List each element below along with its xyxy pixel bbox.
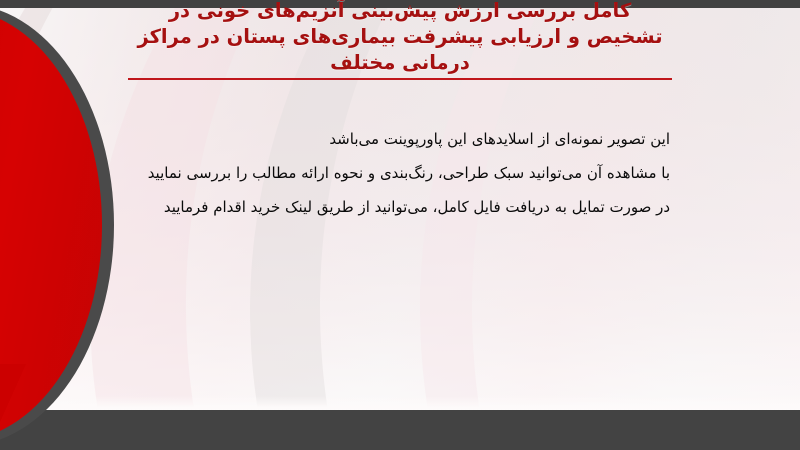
title-divider-rule xyxy=(128,78,672,80)
bottom-frame-band xyxy=(0,410,800,450)
body-line-1: این تصویر نمونه‌ای از اسلایدهای این پاور… xyxy=(130,122,670,156)
slide-title: کامل بررسی ارزش پیش‌بینی آنزیم‌های خونی … xyxy=(100,0,700,76)
slide-title-line-1: کامل بررسی ارزش پیش‌بینی آنزیم‌های خونی … xyxy=(100,0,700,24)
body-line-2: با مشاهده آن می‌توانید سبک طراحی، رنگ‌بن… xyxy=(130,156,670,190)
body-line-3: در صورت تمایل به دریافت فایل کامل، می‌تو… xyxy=(130,190,670,224)
slide-title-line-3: درمانی مختلف xyxy=(100,50,700,76)
slide-body-text: این تصویر نمونه‌ای از اسلایدهای این پاور… xyxy=(130,122,670,224)
slide-title-line-2: تشخیص و ارزیابی پیشرفت بیماری‌های پستان … xyxy=(100,24,700,50)
slide-canvas: کامل بررسی ارزش پیش‌بینی آنزیم‌های خونی … xyxy=(0,0,800,450)
